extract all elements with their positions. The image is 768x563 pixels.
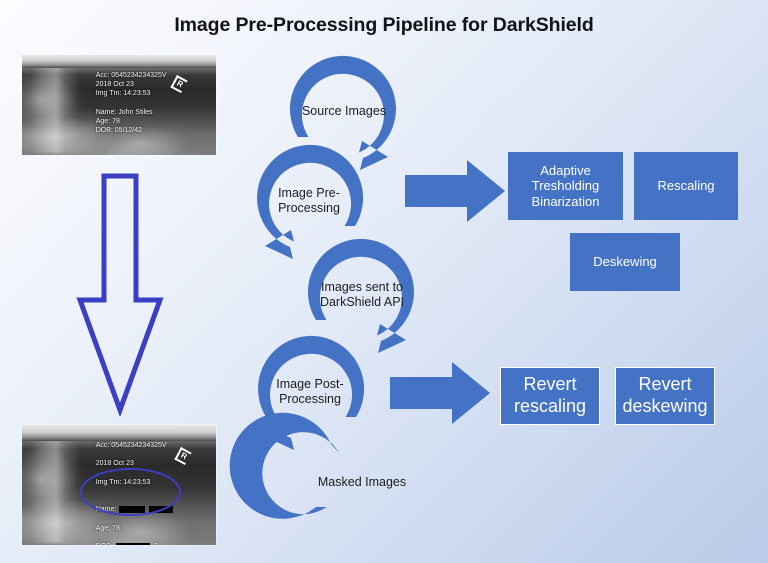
step-label-revert-deskewing: Revert deskewing [622, 374, 707, 417]
xray-top-band [22, 55, 216, 68]
masked-dob-label: DOB: [96, 543, 113, 545]
xray-spine [30, 61, 80, 153]
transform-down-arrow [74, 172, 166, 416]
postprocessing-flow-arrow [390, 362, 490, 424]
page-title: Image Pre-Processing Pipeline for DarkSh… [0, 14, 768, 37]
xray-top-band [22, 425, 216, 441]
masked-age-line: Age: 78 [96, 525, 120, 532]
step-box-revert-rescaling[interactable]: Revert rescaling [500, 367, 600, 425]
original-xray-metadata: Acc: 0545234234325V 2018 Oct 23 Img Tm: … [96, 71, 167, 136]
redaction-highlight-ellipse [80, 468, 181, 516]
step-box-deskewing[interactable]: Deskewing [570, 233, 680, 291]
step-label-revert-rescaling: Revert rescaling [514, 374, 586, 417]
masked-date-line: 2018 Oct 23 [96, 460, 134, 467]
step-box-adaptive-tresholding-binarization[interactable]: Adaptive Tresholding Binarization [508, 152, 623, 220]
xray-spine [30, 432, 80, 542]
step-label-adaptive-tresholding-binarization: Adaptive Tresholding Binarization [532, 163, 600, 210]
masked-acc-line: Acc: 0545234234325V [96, 442, 167, 449]
slide-canvas: Image Pre-Processing Pipeline for DarkSh… [0, 0, 768, 563]
masked-dob-suffix: 2 [154, 543, 158, 545]
step-box-rescaling[interactable]: Rescaling [634, 152, 738, 220]
step-label-deskewing: Deskewing [593, 254, 657, 270]
original-xray-image: Acc: 0545234234325V 2018 Oct 23 Img Tm: … [22, 55, 216, 155]
masked-xray-image: Acc: 0545234234325V 2018 Oct 23 Img Tm: … [22, 425, 216, 545]
step-label-rescaling: Rescaling [657, 178, 714, 194]
cycle-stage-masked-images: Masked Images [305, 427, 419, 541]
step-box-revert-deskewing[interactable]: Revert deskewing [615, 367, 715, 425]
preprocessing-flow-arrow [405, 160, 505, 222]
redaction-block-dob [116, 543, 150, 545]
